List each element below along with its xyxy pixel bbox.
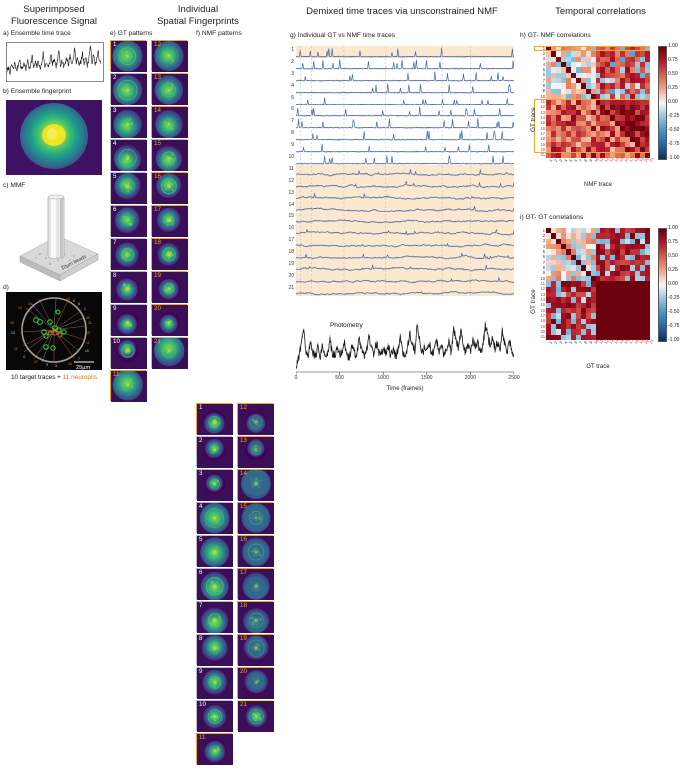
trace-svg bbox=[296, 284, 514, 296]
trace-svg bbox=[296, 236, 514, 248]
pattern-number: 4 bbox=[113, 140, 116, 148]
svg-text:3: 3 bbox=[55, 364, 57, 368]
panel-label-f: f) NMF patterns bbox=[196, 30, 242, 37]
pattern-cell[interactable]: 18 bbox=[237, 601, 273, 632]
trace-row: 16 bbox=[296, 224, 514, 236]
heatmap-row-tick: 21 bbox=[540, 335, 545, 339]
pattern-number: 2 bbox=[199, 437, 202, 445]
colorbar-tick: 0.75 bbox=[668, 239, 678, 245]
colorbar-tick: 1.00 bbox=[668, 225, 678, 231]
svg-text:4: 4 bbox=[23, 355, 25, 359]
pattern-cell[interactable]: 6 bbox=[196, 568, 232, 599]
pattern-number: 7 bbox=[113, 239, 116, 247]
pattern-cell[interactable]: 9 bbox=[110, 304, 146, 335]
svg-text:12: 12 bbox=[14, 347, 18, 351]
trace-row-number: 15 bbox=[286, 213, 294, 219]
facet-svg: 516 188 61 2021 1911 107 163 917 412 131… bbox=[6, 292, 102, 370]
pattern-number: 6 bbox=[113, 206, 116, 214]
pattern-cell[interactable]: 13 bbox=[151, 73, 187, 104]
nmf-pattern-grid: 1 2 3 bbox=[196, 403, 276, 766]
colorbar-tick: 0.00 bbox=[668, 281, 678, 287]
heatmap-i-xlabel: GT trace bbox=[546, 364, 650, 370]
trace-svg bbox=[296, 165, 514, 177]
trace-svg bbox=[296, 117, 514, 129]
column-title-correlations: Temporal correlations bbox=[516, 6, 685, 18]
svg-text:15: 15 bbox=[10, 321, 14, 325]
pattern-cell[interactable]: 7 bbox=[110, 238, 146, 269]
pattern-number: 11 bbox=[199, 734, 205, 742]
pattern-number: 18 bbox=[240, 602, 247, 610]
colorbar-tick: -0.75 bbox=[668, 141, 679, 147]
column-title-demixed: Demixed time traces via unsconstrained N… bbox=[284, 6, 520, 18]
pattern-number: 14 bbox=[154, 107, 161, 115]
heatmap-row-tick: 21 bbox=[540, 153, 545, 157]
photometry-xtick: 2000 bbox=[465, 375, 477, 381]
trace-svg bbox=[296, 82, 514, 94]
svg-text:8: 8 bbox=[73, 299, 75, 303]
pattern-number: 20 bbox=[154, 305, 161, 313]
mmf-diagram: 10µm beads bbox=[6, 190, 102, 285]
trace-row: 12 bbox=[296, 177, 514, 189]
pattern-cell[interactable]: 15 bbox=[237, 502, 273, 533]
colorbar-tick: -0.75 bbox=[668, 323, 679, 329]
trace-row-number: 6 bbox=[286, 106, 294, 112]
pattern-cell[interactable]: 5 bbox=[196, 535, 232, 566]
trace-row: 21 bbox=[296, 284, 514, 296]
panel-label-c: c) MMF bbox=[3, 182, 25, 189]
pattern-number: 8 bbox=[199, 635, 202, 643]
svg-text:16: 16 bbox=[28, 302, 32, 306]
photometry-xtick: 500 bbox=[335, 375, 344, 381]
trace-row-number: 8 bbox=[286, 130, 294, 136]
caption-target-traces: 10 target traces + bbox=[11, 374, 63, 381]
pattern-number: 5 bbox=[199, 536, 202, 544]
trace-row: 14 bbox=[296, 201, 514, 213]
pattern-cell[interactable]: 21 bbox=[151, 337, 187, 368]
heatmap-h-xlabel: NMF trace bbox=[546, 182, 650, 188]
pattern-cell[interactable]: 18 bbox=[151, 238, 187, 269]
pattern-cell[interactable]: 3 bbox=[110, 106, 146, 137]
heatmap-h-colorbar-ticks: 1.000.750.500.250.00-0.25-0.50-0.75-1.00 bbox=[658, 46, 684, 158]
heatmap-i-row-ticks: 123456789101112131415161718192021 bbox=[534, 228, 546, 340]
trace-row-number: 10 bbox=[286, 154, 294, 160]
pattern-cell[interactable]: 12 bbox=[237, 403, 273, 434]
trace-row-number: 12 bbox=[286, 178, 294, 184]
trace-row: 8 bbox=[296, 129, 514, 141]
photometry-xtick-labels: 05001000150020002500 bbox=[296, 373, 514, 383]
pattern-number: 11 bbox=[113, 371, 119, 379]
mmf-svg: 10µm beads bbox=[6, 190, 102, 285]
trace-row-number: 16 bbox=[286, 225, 294, 231]
trace-row-number: 19 bbox=[286, 261, 294, 267]
photometry-plot bbox=[296, 318, 514, 380]
trace-svg bbox=[296, 224, 514, 236]
pattern-number: 3 bbox=[113, 107, 116, 115]
scalebar-label: 25µm bbox=[76, 365, 90, 370]
pattern-cell[interactable]: 16 bbox=[237, 535, 273, 566]
trace-row-number: 1 bbox=[286, 47, 294, 53]
photometry-xtick: 1500 bbox=[421, 375, 433, 381]
panel-label-g: g) Individual GT vs NMF time traces bbox=[290, 32, 395, 39]
pattern-number: 21 bbox=[154, 338, 161, 346]
pattern-number: 10 bbox=[199, 701, 206, 709]
trace-svg bbox=[296, 153, 514, 165]
gt-vs-nmf-traces-plot: 1 2 3 4 5 6 7 8 9 10 bbox=[296, 46, 514, 296]
pattern-cell[interactable]: 19 bbox=[237, 634, 273, 665]
colorbar-tick: -0.25 bbox=[668, 113, 679, 119]
svg-text:7: 7 bbox=[78, 357, 80, 361]
pattern-cell[interactable]: 20 bbox=[151, 304, 187, 335]
column-title-superimposed: Superimposed Fluorescence Signal bbox=[2, 4, 106, 28]
pattern-number: 5 bbox=[113, 173, 116, 181]
svg-text:1: 1 bbox=[84, 307, 86, 311]
heatmap-h-row-ticks: 123456789101112131415161718192021 bbox=[534, 46, 546, 158]
pattern-cell[interactable]: 3 bbox=[196, 469, 232, 500]
gt-nmf-heatmap[interactable] bbox=[546, 46, 650, 158]
trace-row-number: 14 bbox=[286, 202, 294, 208]
trace-row: 19 bbox=[296, 260, 514, 272]
pattern-cell[interactable]: 2 bbox=[196, 436, 232, 467]
pattern-cell[interactable]: 12 bbox=[151, 40, 187, 71]
pattern-number: 1 bbox=[113, 41, 116, 49]
pattern-number: 19 bbox=[154, 272, 161, 280]
pattern-number: 4 bbox=[199, 503, 202, 511]
panel-d-caption: 10 target traces + 11 neuropils bbox=[2, 374, 106, 381]
trace-row: 2 bbox=[296, 58, 514, 70]
trace-row-number: 7 bbox=[286, 118, 294, 124]
trace-svg bbox=[296, 46, 514, 58]
trace-svg bbox=[296, 177, 514, 189]
trace-svg bbox=[296, 272, 514, 284]
heatmap-col-tick: 21 bbox=[648, 338, 655, 345]
trace-row-number: 9 bbox=[286, 142, 294, 148]
pattern-cell[interactable]: 17 bbox=[151, 205, 187, 236]
pattern-cell[interactable]: 14 bbox=[151, 106, 187, 137]
pattern-number: 17 bbox=[240, 569, 247, 577]
pattern-cell[interactable]: 8 bbox=[110, 271, 146, 302]
colorbar-tick: -0.25 bbox=[668, 295, 679, 301]
gt-gt-heatmap[interactable] bbox=[546, 228, 650, 340]
svg-text:14: 14 bbox=[18, 306, 22, 310]
superimposed-fluorescence-column: Superimposed Fluorescence Signal a) Ense… bbox=[0, 0, 108, 411]
svg-text:11: 11 bbox=[86, 341, 90, 345]
pattern-number: 21 bbox=[240, 701, 247, 709]
trace-row: 13 bbox=[296, 189, 514, 201]
pattern-cell[interactable]: 9 bbox=[196, 667, 232, 698]
svg-text:6: 6 bbox=[78, 302, 80, 306]
photometry-xtick: 0 bbox=[295, 375, 298, 381]
trace-row: 20 bbox=[296, 272, 514, 284]
pattern-number: 14 bbox=[240, 470, 247, 478]
panel-label-b: b) Ensemble fingerprint bbox=[3, 88, 71, 95]
pattern-cell[interactable]: 19 bbox=[151, 271, 187, 302]
ensemble-fingerprint-image bbox=[6, 100, 102, 175]
svg-text:10: 10 bbox=[85, 349, 89, 353]
heatmap-h-col-ticks: 123456789101112131415161718192021 bbox=[546, 159, 650, 177]
svg-text:20: 20 bbox=[86, 316, 90, 320]
heatmap-i-colorbar-ticks: 1.000.750.500.250.00-0.25-0.50-0.75-1.00 bbox=[658, 228, 684, 340]
pattern-cell[interactable]: 11 bbox=[110, 370, 146, 401]
trace-row: 7 bbox=[296, 117, 514, 129]
trace-row: 4 bbox=[296, 82, 514, 94]
trace-row-number: 2 bbox=[286, 59, 294, 65]
photometry-xaxis-label: Time (frames) bbox=[296, 386, 514, 392]
svg-text:16: 16 bbox=[68, 362, 72, 366]
panel-label-e: e) GT patterns bbox=[110, 30, 152, 37]
pattern-cell[interactable]: 21 bbox=[237, 700, 273, 731]
pattern-number: 13 bbox=[154, 74, 161, 82]
trace-svg bbox=[296, 141, 514, 153]
trace-row: 3 bbox=[296, 70, 514, 82]
trace-row: 18 bbox=[296, 248, 514, 260]
trace-row: 11 bbox=[296, 165, 514, 177]
trace-svg bbox=[296, 94, 514, 106]
trace-svg bbox=[296, 201, 514, 213]
trace-row: 1 bbox=[296, 46, 514, 58]
pattern-cell[interactable]: 14 bbox=[237, 469, 273, 500]
pattern-number: 19 bbox=[240, 635, 247, 643]
colorbar-tick: 0.00 bbox=[668, 99, 678, 105]
pattern-number: 20 bbox=[240, 668, 247, 676]
pattern-cell[interactable]: 11 bbox=[196, 733, 232, 764]
trace-row-number: 3 bbox=[286, 71, 294, 77]
pattern-number: 17 bbox=[154, 206, 161, 214]
trace-svg bbox=[296, 58, 514, 70]
photometry-xtick: 1000 bbox=[377, 375, 389, 381]
panel-label-d: d) bbox=[3, 284, 9, 291]
pattern-cell[interactable]: 4 bbox=[110, 139, 146, 170]
pattern-number: 12 bbox=[154, 41, 161, 49]
trace-svg bbox=[296, 105, 514, 117]
pattern-number: 15 bbox=[240, 503, 247, 511]
pattern-cell[interactable]: 17 bbox=[237, 568, 273, 599]
pattern-number: 9 bbox=[113, 305, 116, 313]
pattern-cell[interactable]: 1 bbox=[110, 40, 146, 71]
caption-neuropils: 11 neuropils bbox=[63, 374, 97, 381]
pattern-cell[interactable]: 8 bbox=[196, 634, 232, 665]
colorbar-tick: 1.00 bbox=[668, 43, 678, 49]
svg-text:19: 19 bbox=[86, 331, 90, 335]
panel-label-a: a) Ensemble time trace bbox=[3, 30, 71, 37]
pattern-cell[interactable]: 16 bbox=[151, 172, 187, 203]
pattern-cell[interactable]: 10 bbox=[110, 337, 146, 368]
svg-text:17: 17 bbox=[34, 360, 38, 364]
trace-row: 10 bbox=[296, 153, 514, 165]
ensemble-trace-svg bbox=[7, 43, 101, 79]
column-title-fingerprints: Individual Spatial Fingerprints bbox=[108, 4, 288, 28]
trace-row-number: 11 bbox=[286, 166, 294, 172]
pattern-cell[interactable]: 20 bbox=[237, 667, 273, 698]
photometry-title: Photometry bbox=[330, 322, 363, 329]
trace-row: 17 bbox=[296, 236, 514, 248]
svg-text:21: 21 bbox=[88, 321, 92, 325]
pattern-number: 18 bbox=[154, 239, 161, 247]
colorbar-tick: -1.00 bbox=[668, 337, 679, 343]
trace-row: 9 bbox=[296, 141, 514, 153]
trace-svg bbox=[296, 248, 514, 260]
fingerprint-svg bbox=[6, 100, 102, 175]
pattern-number: 2 bbox=[113, 74, 116, 82]
svg-text:5: 5 bbox=[39, 299, 41, 303]
svg-text:9: 9 bbox=[46, 363, 48, 367]
colorbar-tick: -1.00 bbox=[668, 155, 679, 161]
trace-svg bbox=[296, 129, 514, 141]
trace-row-number: 5 bbox=[286, 95, 294, 101]
trace-row-number: 17 bbox=[286, 237, 294, 243]
pattern-cell[interactable]: 5 bbox=[110, 172, 146, 203]
trace-row: 6 bbox=[296, 105, 514, 117]
pattern-number: 6 bbox=[199, 569, 202, 577]
pattern-cell[interactable]: 10 bbox=[196, 700, 232, 731]
pattern-number: 16 bbox=[154, 173, 161, 181]
heatmap-i-col-ticks: 123456789101112131415161718192021 bbox=[546, 341, 650, 359]
colorbar-tick: -0.50 bbox=[668, 127, 679, 133]
trace-svg bbox=[296, 260, 514, 272]
pattern-number: 15 bbox=[154, 140, 161, 148]
gt-pattern-grid: 1 2 3 bbox=[110, 40, 190, 403]
panel-label-i: i) GT- GT correlations bbox=[520, 214, 583, 221]
pattern-number: 3 bbox=[199, 470, 202, 478]
panel-label-h: h) GT- NMF correlations bbox=[520, 32, 591, 39]
svg-text:18: 18 bbox=[66, 297, 70, 301]
trace-svg bbox=[296, 212, 514, 224]
pattern-cell[interactable]: 2 bbox=[110, 73, 146, 104]
colorbar-tick: 0.50 bbox=[668, 253, 678, 259]
trace-row: 15 bbox=[296, 212, 514, 224]
fiber-facet-image: 516 188 61 2021 1911 107 163 917 412 131… bbox=[6, 292, 102, 370]
pattern-cell[interactable]: 13 bbox=[237, 436, 273, 467]
colorbar-tick: 0.50 bbox=[668, 71, 678, 77]
pattern-number: 16 bbox=[240, 536, 247, 544]
trace-row-number: 21 bbox=[286, 285, 294, 291]
pattern-cell[interactable]: 7 bbox=[196, 601, 232, 632]
colorbar-tick: 0.25 bbox=[668, 267, 678, 273]
pattern-cell[interactable]: 6 bbox=[110, 205, 146, 236]
colorbar-tick: -0.50 bbox=[668, 309, 679, 315]
trace-row-number: 13 bbox=[286, 190, 294, 196]
pattern-number: 7 bbox=[199, 602, 202, 610]
trace-row-number: 4 bbox=[286, 83, 294, 89]
temporal-correlations-column: Temporal correlations h) GT- NMF correla… bbox=[516, 0, 685, 411]
colorbar-tick: 0.75 bbox=[668, 57, 678, 63]
svg-text:13: 13 bbox=[11, 331, 15, 335]
trace-svg bbox=[296, 70, 514, 82]
trace-row-number: 18 bbox=[286, 249, 294, 255]
trace-row: 5 bbox=[296, 94, 514, 106]
ensemble-time-trace-plot bbox=[6, 42, 104, 82]
spatial-fingerprints-column: Individual Spatial Fingerprints e) GT pa… bbox=[108, 0, 288, 411]
pattern-number: 9 bbox=[199, 668, 202, 676]
trace-row-number: 20 bbox=[286, 273, 294, 279]
pattern-number: 8 bbox=[113, 272, 116, 280]
trace-svg bbox=[296, 189, 514, 201]
pattern-number: 13 bbox=[240, 437, 247, 445]
pattern-cell[interactable]: 15 bbox=[151, 139, 187, 170]
pattern-cell[interactable]: 4 bbox=[196, 502, 232, 533]
pattern-number: 10 bbox=[113, 338, 120, 346]
pattern-cell[interactable]: 1 bbox=[196, 403, 232, 434]
heatmap-col-tick: 21 bbox=[648, 156, 655, 163]
photometry-svg bbox=[296, 318, 514, 380]
colorbar-tick: 0.25 bbox=[668, 85, 678, 91]
